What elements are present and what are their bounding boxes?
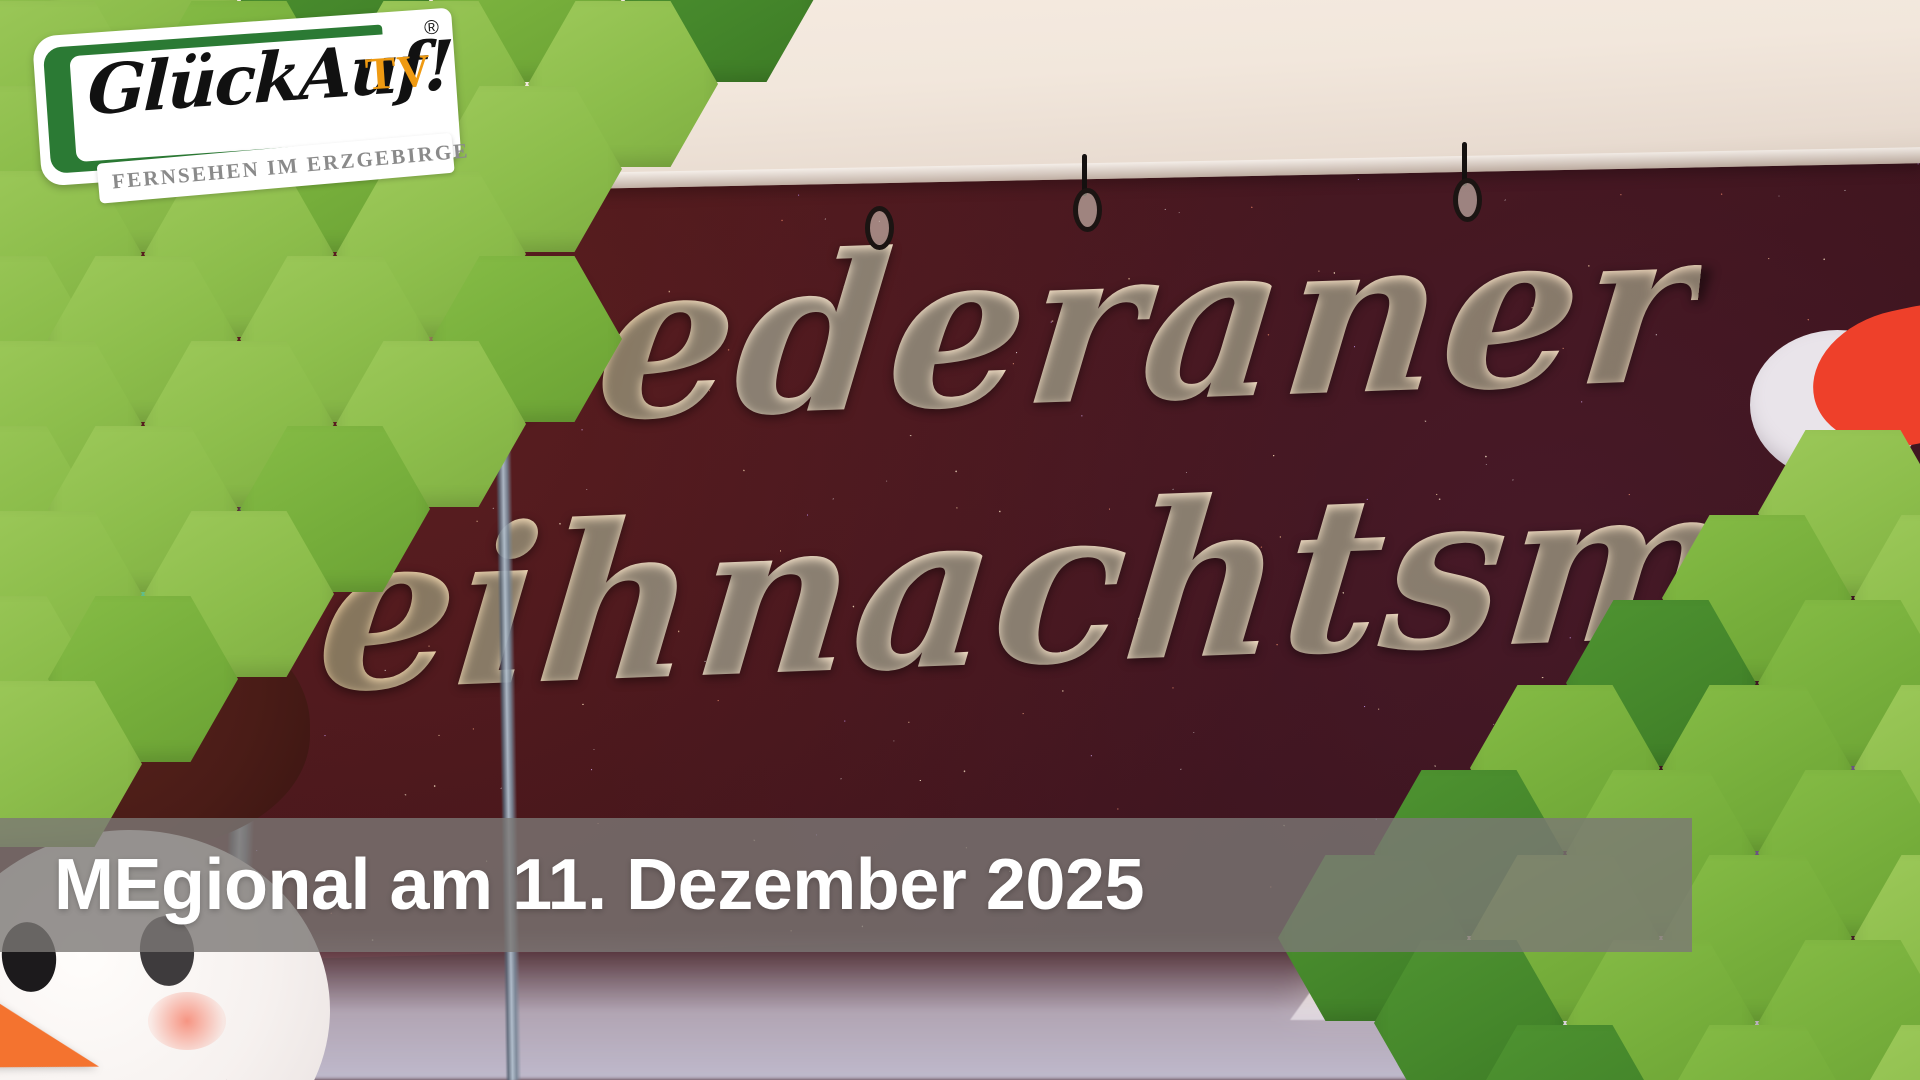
registered-trademark-icon: ® [423, 16, 439, 40]
glueckauf-tv-logo[interactable]: GlückAuf! TV ® FERNSEHEN IM ERZGEBIRGE [32, 8, 464, 227]
snowman-carrot-nose [0, 983, 111, 1080]
snowman-cheek [148, 992, 226, 1050]
caption-bar: MEgional am 11. Dezember 2025 [0, 818, 1692, 952]
caption-text: MEgional am 11. Dezember 2025 [54, 844, 1144, 926]
grommet-icon [1073, 188, 1102, 232]
grommet-icon [1453, 178, 1482, 222]
video-frame: Oederaner Weihnachtsmarkt [0, 0, 1920, 1080]
logo-channel-suffix: TV [363, 43, 432, 100]
hex-overlay-bottom-right [860, 540, 1920, 1080]
grommet-icon [865, 206, 894, 250]
snowman-mouth [106, 1064, 231, 1080]
